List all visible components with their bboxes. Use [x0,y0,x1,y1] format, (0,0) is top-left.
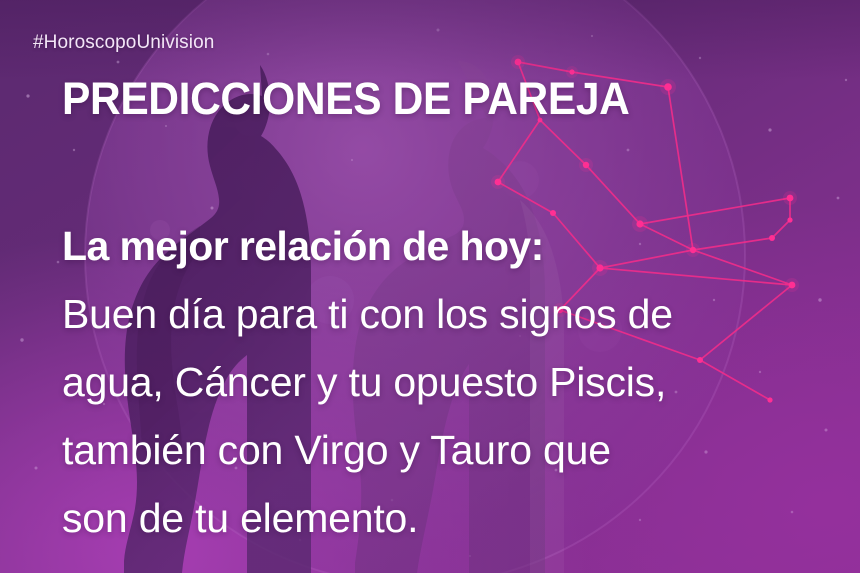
page-title: PREDICCIONES DE PAREJA [62,74,629,124]
prediction-body: La mejor relación de hoy: Buen día para … [62,212,852,552]
prediction-line: son de tu elemento. [62,484,852,552]
prediction-line: también con Virgo y Tauro que [62,416,852,484]
prediction-line: agua, Cáncer y tu opuesto Piscis, [62,348,852,416]
prediction-line: Buen día para ti con los signos de [62,280,852,348]
horoscope-card: #HoroscopoUnivision PREDICCIONES DE PARE… [0,0,860,573]
text-content: #HoroscopoUnivision PREDICCIONES DE PARE… [0,0,860,573]
hashtag-label: #HoroscopoUnivision [33,32,214,54]
prediction-lead: La mejor relación de hoy: [62,212,852,280]
